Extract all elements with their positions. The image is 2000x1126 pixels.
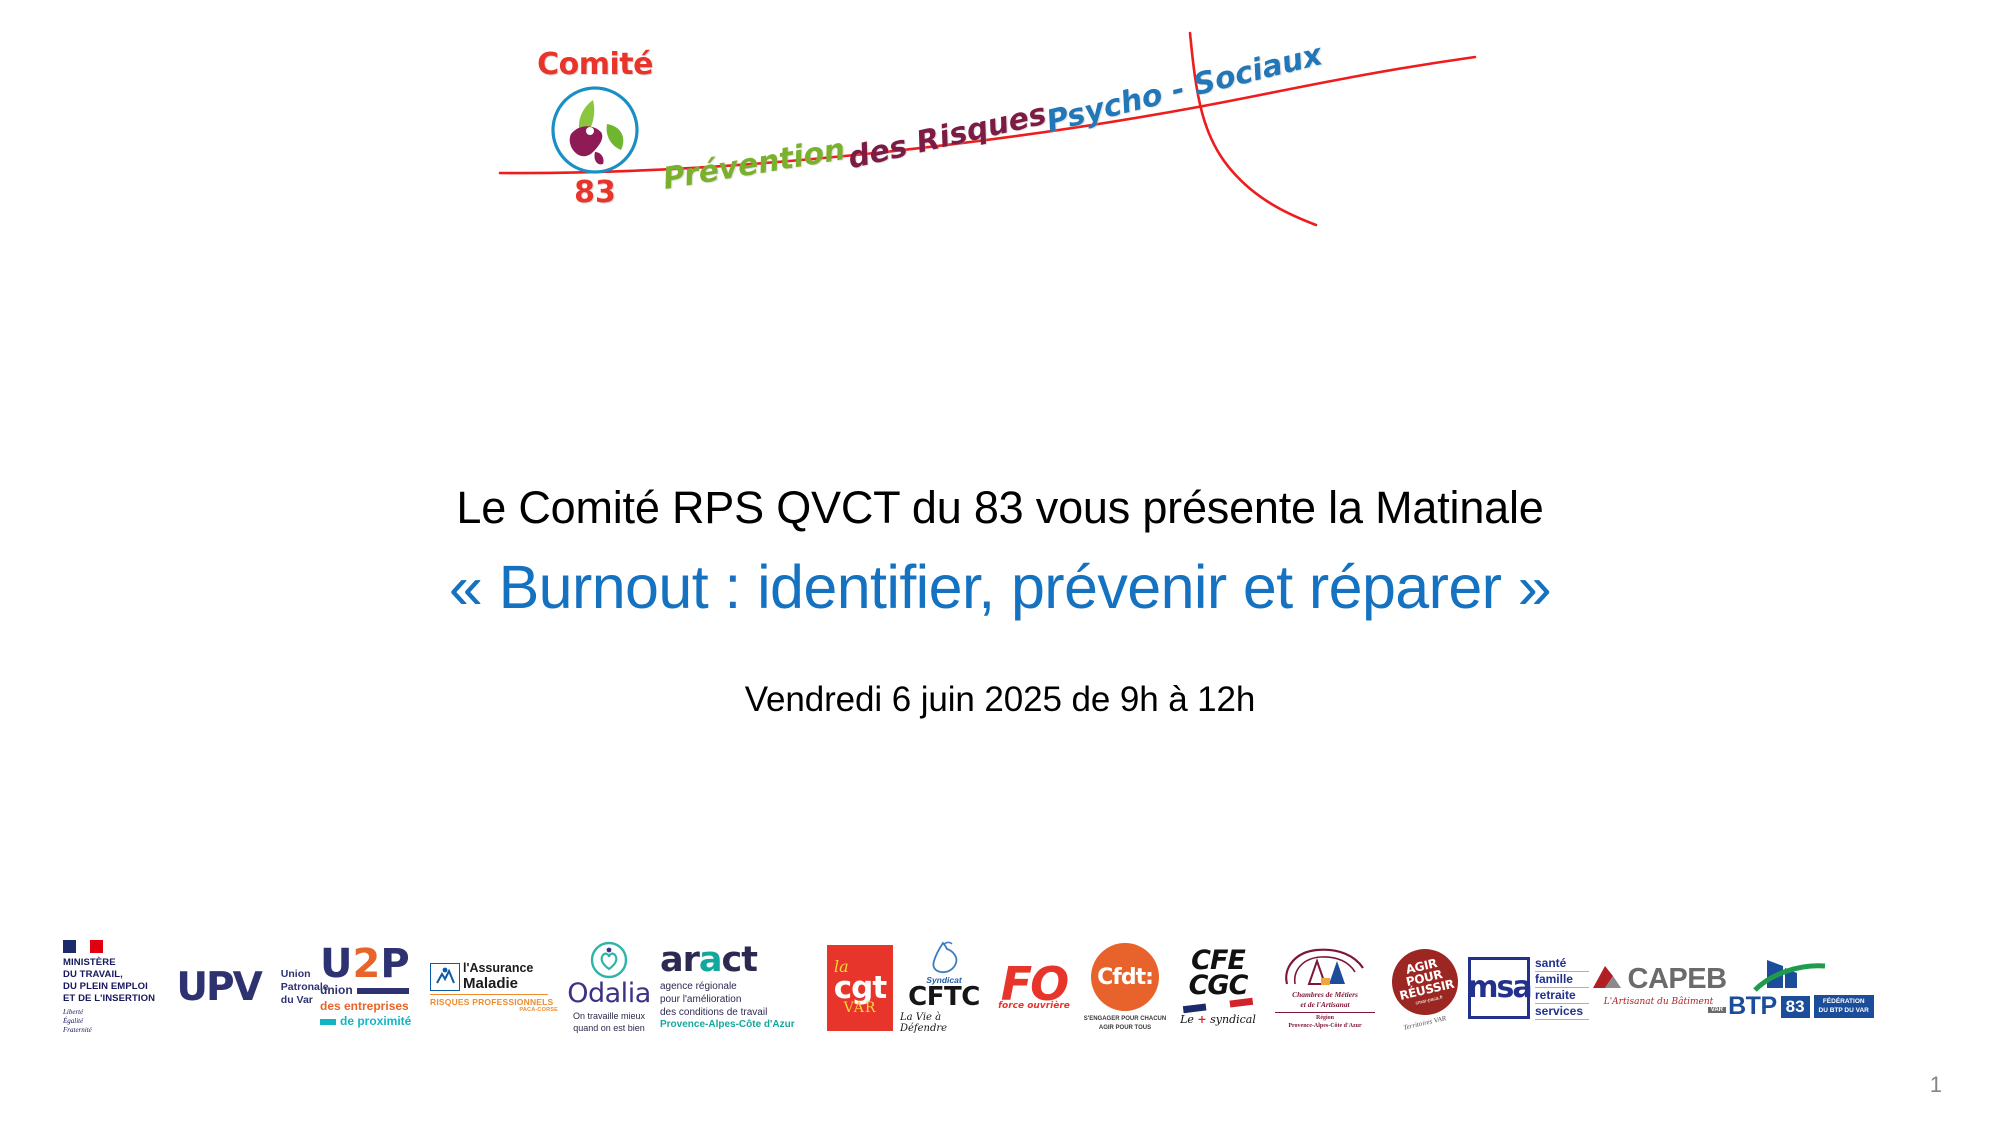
- cma-rule: [1275, 1012, 1375, 1013]
- intro-line: Le Comité RPS QVCT du 83 vous présente l…: [0, 480, 2000, 536]
- cma-region-block: Région Provence-Alpes-Côte d'Azur: [1288, 1015, 1361, 1031]
- capeb-arrow-icon: [1591, 962, 1625, 996]
- comite-logo-mark: [549, 84, 641, 176]
- aract-part-3: ct: [722, 940, 757, 980]
- msa-services-list: santé famille retraite services: [1535, 956, 1589, 1020]
- partner-logo-force-ouvriere: FO force ouvrière: [988, 928, 1080, 1048]
- btp-fed-1: FÉDÉRATION: [1823, 998, 1865, 1005]
- msa-wordmark: msa: [1467, 976, 1530, 1000]
- headline: « Burnout : identifier, prévenir et répa…: [0, 548, 2000, 627]
- cfe-wordmark-2: CGC: [1189, 974, 1248, 999]
- aract-sub-1: agence régionale: [660, 981, 795, 994]
- partner-logo-cma: Chambres de Métiers et de l'Artisanat Ré…: [1266, 928, 1384, 1048]
- aract-wordmark: aract: [660, 943, 757, 978]
- cfdt-wordmark: Cfdt:: [1097, 965, 1153, 990]
- cma-sub-1: Chambres de Métiers: [1292, 990, 1358, 1000]
- u2p-sub-2: des entreprises: [320, 999, 409, 1015]
- u2p-sub-1: union: [320, 983, 409, 999]
- partner-logo-strip: MINISTÈRE DU TRAVAIL, DU PLEIN EMPLOI ET…: [55, 915, 1955, 1060]
- ministere-devise: Liberté Égalité Fraternité: [63, 1008, 92, 1035]
- u2p-bar-2: [320, 1019, 336, 1025]
- cfe-plus-icon: +: [1197, 1013, 1206, 1026]
- capeb-var-label: VAR: [1708, 1007, 1726, 1013]
- partner-logo-upv: UPV Union Patronale du Var: [185, 928, 320, 1048]
- cfe-tagline-pre: Le: [1180, 1013, 1197, 1026]
- partner-logo-odalia: Odalia On travaille mieux quand on est b…: [558, 928, 660, 1048]
- assurance-title-2: Maladie: [463, 976, 533, 992]
- partner-logo-cftc: Syndicat CFTC La Vie à Défendre: [900, 928, 988, 1048]
- aract-sub-2: pour l'amélioration: [660, 994, 795, 1007]
- u2p-letter-p: P: [380, 941, 409, 987]
- partner-logo-capeb: CAPEB L'Artisanat du Bâtiment VAR: [1591, 928, 1726, 1048]
- partner-logo-btp-83: BTP 83 FÉDÉRATION DU BTP DU VAR: [1726, 928, 1876, 1048]
- devise-fraternite: Fraternité: [63, 1026, 92, 1035]
- date-line: Vendredi 6 juin 2025 de 9h à 12h: [0, 680, 2000, 720]
- cma-sub-2: et de l'Artisanat: [1292, 1000, 1358, 1010]
- odalia-sub-2: quand on est bien: [573, 1023, 645, 1035]
- upv-wordmark: UPV: [176, 968, 260, 1007]
- partner-logo-ministere-travail: MINISTÈRE DU TRAVAIL, DU PLEIN EMPLOI ET…: [55, 928, 185, 1048]
- aract-part-1: ar: [660, 940, 699, 980]
- aract-region: Provence-Alpes-Côte d'Azur: [660, 1019, 795, 1032]
- partner-logo-msa: msa santé famille retraite services: [1466, 928, 1591, 1048]
- ministere-line-3: DU PLEIN EMPLOI: [63, 981, 155, 993]
- partner-logo-u2p: U2P union des entreprises de proximité: [320, 928, 430, 1048]
- odalia-sub-1: On travaille mieux: [573, 1011, 645, 1023]
- assurance-region: PACA-CORSE: [519, 1007, 558, 1013]
- msa-badge: msa: [1468, 957, 1530, 1019]
- cftc-bird-icon: [923, 941, 965, 975]
- btp-emblem-icon: [1753, 956, 1849, 994]
- capeb-top: CAPEB: [1591, 962, 1727, 996]
- fo-tagline: force ouvrière: [998, 1001, 1070, 1011]
- btp-wordmark: BTP: [1728, 994, 1777, 1019]
- u2p-sub-3: de proximité: [320, 1014, 411, 1030]
- partner-logo-cfe-cgc: CFE CGC Le + syndical: [1170, 928, 1266, 1048]
- partner-logo-cgt-var: la cgt VAR: [820, 928, 900, 1048]
- page-number: 1: [1930, 1072, 1942, 1098]
- agir-territoire: Territoires VAR: [1403, 1014, 1447, 1032]
- cfdt-tagline-1: S'ENGAGER POUR CHACUN: [1084, 1015, 1166, 1023]
- partner-logo-cfdt: Cfdt: S'ENGAGER POUR CHACUN AGIR POUR TO…: [1080, 928, 1170, 1048]
- header-banner: Comité 83 Prévention des Risques: [490, 25, 1530, 255]
- cfdt-tagline: S'ENGAGER POUR CHACUN AGIR POUR TOUS: [1084, 1015, 1166, 1031]
- cftc-tagline: La Vie à Défendre: [900, 1012, 988, 1034]
- ministere-line-2: DU TRAVAIL,: [63, 969, 155, 981]
- cma-subtitle: Chambres de Métiers et de l'Artisanat: [1292, 990, 1358, 1010]
- ministere-title: MINISTÈRE DU TRAVAIL, DU PLEIN EMPLOI ET…: [63, 957, 155, 1006]
- odalia-heart-icon: [586, 940, 632, 980]
- title-block: Le Comité RPS QVCT du 83 vous présente l…: [0, 480, 2000, 720]
- btp-dept-badge: 83: [1781, 996, 1810, 1018]
- capeb-wordmark: CAPEB: [1628, 965, 1727, 994]
- cma-emblem-icon: [1279, 944, 1371, 990]
- comite-logo-word-top: Comité: [530, 50, 660, 80]
- cfe-tagline-post: syndical: [1207, 1013, 1256, 1026]
- aract-subtitle: agence régionale pour l'amélioration des…: [660, 981, 795, 1032]
- btp-federation-badge: FÉDÉRATION DU BTP DU VAR: [1814, 995, 1874, 1017]
- ministere-line-1: MINISTÈRE: [63, 957, 155, 969]
- cgt-wordmark: cgt: [834, 975, 886, 1001]
- assurance-maladie-emblem-icon: [430, 963, 460, 991]
- partner-logo-assurance-maladie: l'Assurance Maladie RISQUES PROFESSIONNE…: [430, 928, 558, 1048]
- cfe-tagline: Le + syndical: [1180, 1013, 1256, 1026]
- u2p-letter-u: U: [320, 941, 352, 987]
- agir-badge: AGIR POUR RÉUSSIR cmar-paca.fr: [1385, 942, 1464, 1021]
- cgt-badge: la cgt VAR: [827, 945, 893, 1031]
- slide-canvas: Comité 83 Prévention des Risques: [0, 0, 2000, 1126]
- msa-item-famille: famille: [1535, 972, 1589, 988]
- comite-83-logo: Comité 83: [530, 50, 660, 235]
- btp-fed-2: DU BTP DU VAR: [1819, 1007, 1869, 1014]
- cfdt-badge: Cfdt:: [1091, 943, 1159, 1011]
- odalia-wordmark: Odalia: [567, 980, 650, 1007]
- assurance-title-1: l'Assurance: [463, 962, 533, 976]
- assurance-rule: [430, 994, 548, 996]
- devise-egalite: Égalité: [63, 1017, 92, 1026]
- u2p-letter-2: 2: [352, 941, 380, 987]
- capeb-tagline: L'Artisanat du Bâtiment: [1604, 997, 1714, 1007]
- cfdt-tagline-2: AGIR POUR TOUS: [1084, 1024, 1166, 1032]
- french-flag-icon: [63, 940, 103, 953]
- assurance-maladie-titles: l'Assurance Maladie: [463, 962, 533, 992]
- aract-part-2: a: [699, 940, 722, 980]
- partner-logo-aract: aract agence régionale pour l'améliorati…: [660, 928, 820, 1048]
- msa-item-services: services: [1535, 1004, 1589, 1020]
- msa-item-retraite: retraite: [1535, 988, 1589, 1004]
- cma-region-label: Région: [1288, 1015, 1361, 1023]
- cma-region: Provence-Alpes-Côte d'Azur: [1288, 1023, 1361, 1031]
- assurance-maladie-top: l'Assurance Maladie: [430, 962, 533, 992]
- assurance-tagline: RISQUES PROFESSIONNELS: [430, 997, 553, 1007]
- cftc-wordmark: CFTC: [908, 985, 980, 1010]
- ministere-line-4: ET DE L'INSERTION: [63, 993, 155, 1005]
- msa-item-sante: santé: [1535, 956, 1589, 972]
- partner-logo-agir-pour-reussir: AGIR POUR RÉUSSIR cmar-paca.fr Territoir…: [1384, 928, 1466, 1048]
- cgt-var-label: VAR: [844, 1001, 877, 1015]
- u2p-wordmark: U2P: [320, 945, 410, 983]
- u2p-bar-1: [357, 988, 409, 994]
- devise-liberte: Liberté: [63, 1008, 92, 1017]
- btp-bottom: BTP 83 FÉDÉRATION DU BTP DU VAR: [1728, 994, 1874, 1019]
- odalia-tagline: On travaille mieux quand on est bien: [573, 1011, 645, 1034]
- comite-logo-word-bottom: 83: [530, 178, 660, 208]
- fo-wordmark: FO: [1001, 964, 1068, 1005]
- aract-sub-3: des conditions de travail: [660, 1007, 795, 1020]
